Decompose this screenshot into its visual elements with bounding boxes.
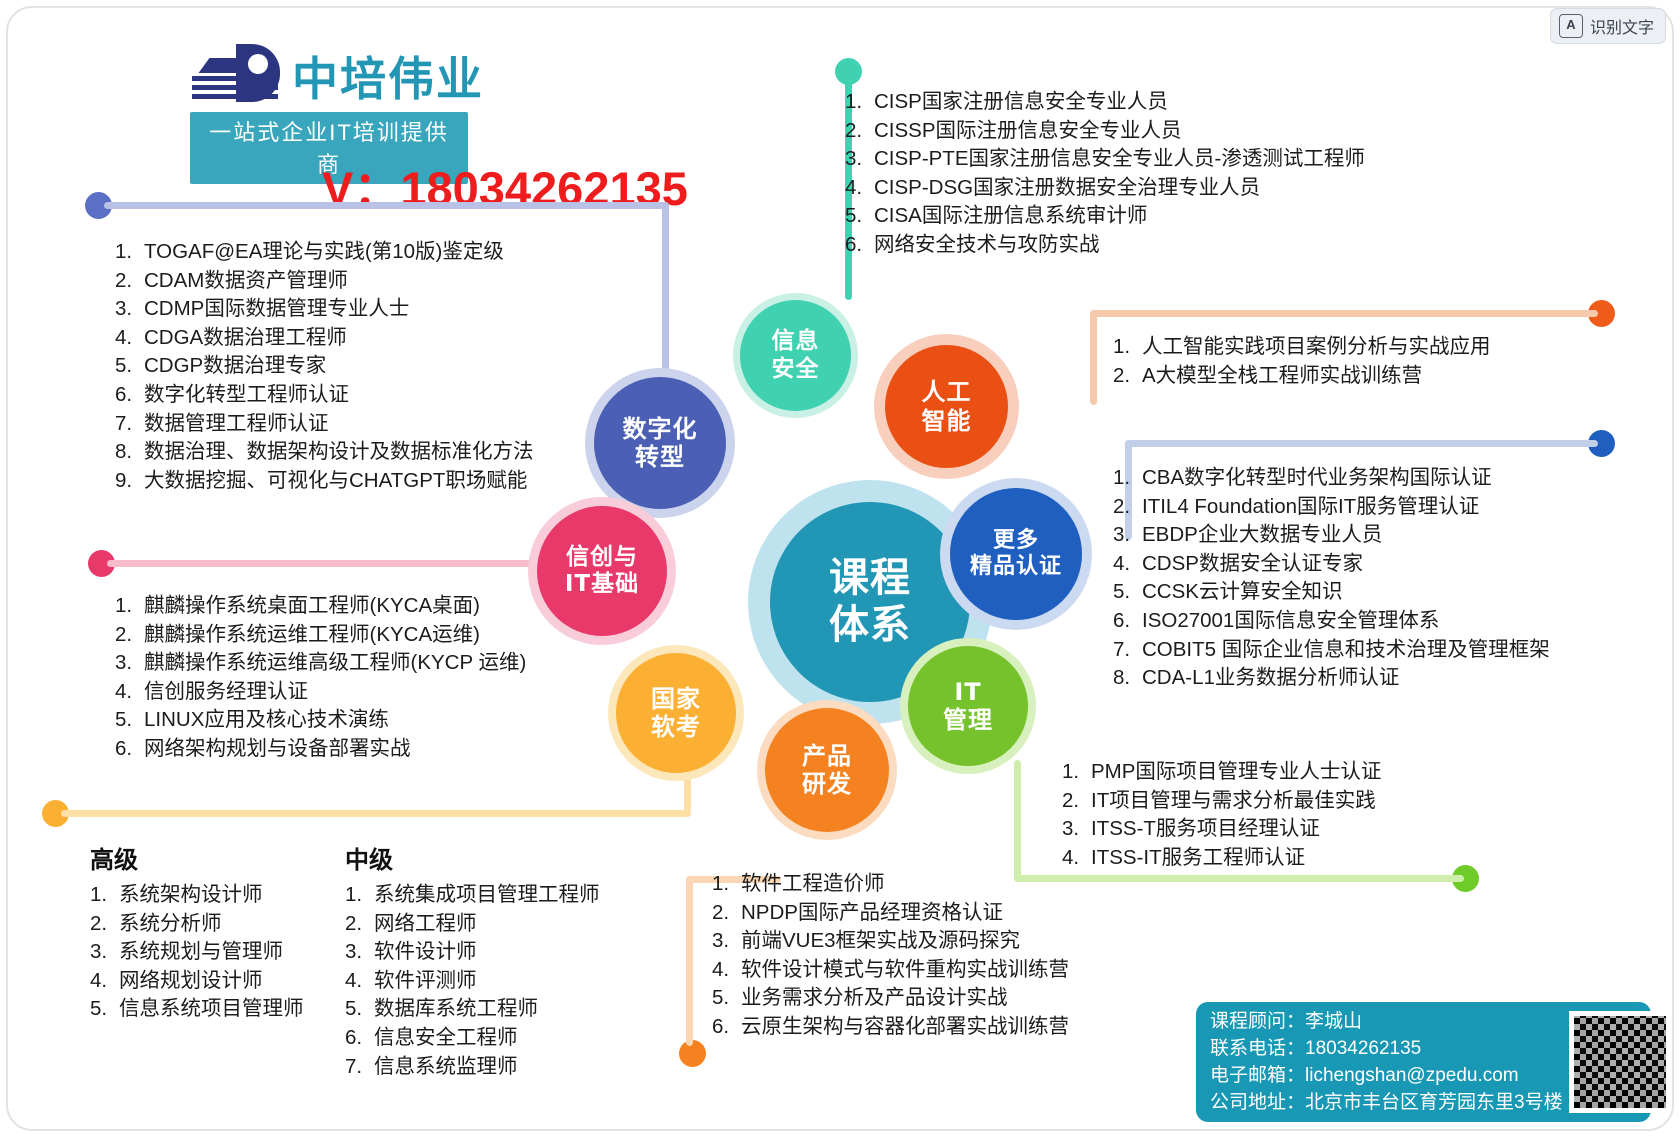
list-item-text: 麒麟操作系统桌面工程师(KYCA桌面) — [144, 592, 480, 621]
bubble-more-certifications[interactable]: 更多 精品认证 — [950, 488, 1082, 620]
list-item-text: 数据治理、数据架构设计及数据标准化方法 — [144, 438, 534, 467]
list-item: 5.信息系统项目管理师 — [90, 995, 304, 1024]
connector-exam-h — [61, 810, 691, 817]
list-item: 8.CDA-L1业务数据分析师认证 — [1113, 664, 1550, 693]
list-item: 1.TOGAF@EA理论与实践(第10版)鉴定级 — [115, 238, 534, 267]
list-item-text: PMP国际项目管理专业人士认证 — [1091, 758, 1381, 787]
list-item: 1.系统集成项目管理工程师 — [345, 881, 600, 910]
list-item: 3.前端VUE3框架实战及源码探究 — [712, 927, 1069, 956]
list-item: 4.软件评测师 — [345, 967, 600, 996]
list-item: 6.数字化转型工程师认证 — [115, 381, 534, 410]
list-item: 2.CISSP国际注册信息安全专业人员 — [845, 117, 1365, 146]
list-item: 6.网络架构规划与设备部署实战 — [115, 735, 526, 764]
connector-dot-infosec — [835, 58, 862, 85]
list-item: 1.CISP国家注册信息安全专业人员 — [845, 88, 1365, 117]
list-item: 2.系统分析师 — [90, 910, 304, 939]
list-item-text: ITSS-T服务项目经理认证 — [1091, 815, 1320, 844]
list-item-text: 软件设计师 — [374, 938, 477, 967]
list-digital-transformation: 1.TOGAF@EA理论与实践(第10版)鉴定级 2.CDAM数据资产管理师 3… — [115, 238, 534, 495]
zp-logo-icon — [190, 42, 282, 104]
list-item: 6.ISO27001国际信息安全管理体系 — [1113, 607, 1550, 636]
list-item-text: 大数据挖掘、可视化与CHATGPT职场赋能 — [144, 467, 527, 496]
bubble-digital-line2: 转型 — [635, 443, 685, 471]
bubble-artificial-intelligence[interactable]: 人工 智能 — [885, 345, 1008, 468]
list-item-text: CDA-L1业务数据分析师认证 — [1142, 664, 1399, 693]
list-item: 7.COBIT5 国际企业信息和技术治理及管理框架 — [1113, 636, 1550, 665]
list-item: 5.CCSK云计算安全知识 — [1113, 578, 1550, 607]
list-item: 1.CBA数字化转型时代业务架构国际认证 — [1113, 464, 1550, 493]
contact-phone: 联系电话：18034262135 — [1210, 1035, 1563, 1062]
bubble-itmgmt-line2: 管理 — [943, 706, 993, 734]
bubble-product-rd[interactable]: 产品 研发 — [765, 708, 889, 832]
bubble-product-line2: 研发 — [802, 770, 852, 798]
list-item: 3.CDMP国际数据管理专业人士 — [115, 295, 534, 324]
connector-ai-h — [1090, 310, 1598, 317]
connector-itmgmt-v — [1014, 760, 1021, 880]
list-item-text: COBIT5 国际企业信息和技术治理及管理框架 — [1142, 636, 1550, 665]
list-item: 4.CDSP数据安全认证专家 — [1113, 550, 1550, 579]
qr-code-image — [1569, 1011, 1671, 1113]
bubble-information-security[interactable]: 信息 安全 — [740, 300, 851, 411]
list-item-text: CISSP国际注册信息安全专业人员 — [874, 117, 1182, 146]
list-item-text: LINUX应用及核心技术演练 — [144, 706, 389, 735]
bubble-exam-line1: 国家 — [651, 685, 701, 713]
list-item-text: 信创服务经理认证 — [144, 678, 308, 707]
list-item: 6.云原生架构与容器化部署实战训练营 — [712, 1013, 1069, 1042]
bubble-infosec-line2: 安全 — [772, 356, 820, 382]
list-item-text: CISA国际注册信息系统审计师 — [874, 202, 1147, 231]
list-item: 1.软件工程造价师 — [712, 870, 1069, 899]
list-item-text: 麒麟操作系统运维工程师(KYCA运维) — [144, 621, 480, 650]
list-item-text: ITSS-IT服务工程师认证 — [1091, 844, 1305, 873]
list-item-text: CDAM数据资产管理师 — [144, 267, 348, 296]
text-recognition-icon: A — [1559, 14, 1583, 38]
list-item-text: CISP-PTE国家注册信息安全专业人员-渗透测试工程师 — [874, 145, 1365, 174]
list-item: 6.网络安全技术与攻防实战 — [845, 231, 1365, 260]
brand-name: 中培伟业 — [292, 56, 484, 102]
list-item-text: NPDP国际产品经理资格认证 — [741, 899, 1003, 928]
list-item-text: EBDP企业大数据专业人员 — [1142, 521, 1382, 550]
list-item: 5.LINUX应用及核心技术演练 — [115, 706, 526, 735]
bubble-more-line1: 更多 — [993, 528, 1039, 553]
list-item-text: 系统集成项目管理工程师 — [374, 881, 600, 910]
recognize-text-label: 识别文字 — [1590, 14, 1654, 38]
connector-xinchuang-h — [107, 560, 577, 567]
bubble-xinchuang-line1: 信创与 — [566, 544, 638, 570]
list-item: 4.CISP-DSG国家注册数据安全治理专业人员 — [845, 174, 1365, 203]
list-item: 2.ITIL4 Foundation国际IT服务管理认证 — [1113, 493, 1550, 522]
bubble-xinchuang-line2: IT基础 — [565, 571, 639, 597]
list-item-text: 数据库系统工程师 — [374, 995, 538, 1024]
list-item-text: 系统架构设计师 — [119, 881, 263, 910]
list-product-rd: 1.软件工程造价师 2.NPDP国际产品经理资格认证 3.前端VUE3框架实战及… — [712, 870, 1069, 1042]
list-it-management: 1.PMP国际项目管理专业人士认证 2.IT项目管理与需求分析最佳实践 3.IT… — [1062, 758, 1381, 872]
list-item-text: 人工智能实践项目案例分析与实战应用 — [1142, 333, 1491, 362]
list-item: 9.大数据挖掘、可视化与CHATGPT职场赋能 — [115, 467, 534, 496]
bubble-course-system-line1: 课程 — [829, 555, 911, 601]
list-item: 4.ITSS-IT服务工程师认证 — [1062, 844, 1381, 873]
bubble-itmgmt-line1: IT — [954, 678, 981, 706]
list-item: 1.人工智能实践项目案例分析与实战应用 — [1113, 333, 1491, 362]
bubble-ai-line1: 人工 — [922, 378, 972, 406]
list-item: 1.麒麟操作系统桌面工程师(KYCA桌面) — [115, 592, 526, 621]
list-item-text: 网络架构规划与设备部署实战 — [144, 735, 411, 764]
list-item: 2.麒麟操作系统运维工程师(KYCA运维) — [115, 621, 526, 650]
list-item: 4.软件设计模式与软件重构实战训练营 — [712, 956, 1069, 985]
bubble-it-management[interactable]: IT 管理 — [908, 646, 1028, 766]
list-item: 4.信创服务经理认证 — [115, 678, 526, 707]
bubble-more-line2: 精品认证 — [970, 554, 1062, 579]
list-item-text: 网络规划设计师 — [119, 967, 263, 996]
list-item-text: 软件设计模式与软件重构实战训练营 — [741, 956, 1069, 985]
list-item-text: 信息系统项目管理师 — [119, 995, 304, 1024]
list-item-text: 云原生架构与容器化部署实战训练营 — [741, 1013, 1069, 1042]
list-item-text: IT项目管理与需求分析最佳实践 — [1091, 787, 1376, 816]
list-item-text: 网络安全技术与攻防实战 — [874, 231, 1100, 260]
list-item: 2.NPDP国际产品经理资格认证 — [712, 899, 1069, 928]
list-item-text: CISP国家注册信息安全专业人员 — [874, 88, 1168, 117]
list-item-text: 前端VUE3框架实战及源码探究 — [741, 927, 1020, 956]
list-item: 5.CISA国际注册信息系统审计师 — [845, 202, 1365, 231]
list-item-text: TOGAF@EA理论与实践(第10版)鉴定级 — [144, 238, 504, 267]
list-item: 1.系统架构设计师 — [90, 881, 304, 910]
list-item: 8.数据治理、数据架构设计及数据标准化方法 — [115, 438, 534, 467]
list-item: 7.信息系统监理师 — [345, 1053, 600, 1082]
list-item-text: ITIL4 Foundation国际IT服务管理认证 — [1142, 493, 1479, 522]
bubble-infosec-line1: 信息 — [772, 328, 820, 354]
list-item: 2.A大模型全栈工程师实战训练营 — [1113, 362, 1491, 391]
list-item: 4.CDGA数据治理工程师 — [115, 324, 534, 353]
list-item: 3.ITSS-T服务项目经理认证 — [1062, 815, 1381, 844]
list-item-text: 系统规划与管理师 — [119, 938, 283, 967]
connector-product-v — [686, 876, 693, 1046]
list-item: 4.网络规划设计师 — [90, 967, 304, 996]
exam-group-senior-title: 高级 — [90, 840, 304, 875]
list-information-security: 1.CISP国家注册信息安全专业人员 2.CISSP国际注册信息安全专业人员 3… — [845, 88, 1365, 260]
bubble-xinchuang-it-base[interactable]: 信创与 IT基础 — [537, 506, 667, 636]
list-item-text: 信息安全工程师 — [374, 1024, 518, 1053]
bubble-national-exam[interactable]: 国家 软考 — [616, 653, 736, 773]
list-item-text: 软件工程造价师 — [741, 870, 885, 899]
list-item-text: 网络工程师 — [374, 910, 477, 939]
connector-digital-v — [662, 202, 669, 392]
list-more-certifications: 1.CBA数字化转型时代业务架构国际认证 2.ITIL4 Foundation国… — [1113, 464, 1550, 693]
list-item-text: CDGP数据治理专家 — [144, 352, 326, 381]
contact-email: 电子邮箱：lichengshan@zpedu.com — [1210, 1062, 1563, 1089]
list-item-text: 软件评测师 — [374, 967, 477, 996]
exam-group-intermediate: 中级 1.系统集成项目管理工程师 2.网络工程师 3.软件设计师 4.软件评测师… — [345, 840, 600, 1081]
bubble-ai-line2: 智能 — [922, 407, 972, 435]
list-item-text: 系统分析师 — [119, 910, 222, 939]
infographic-page: A 识别文字 中培伟业 一站式企业IT培训提供商 V：18034262135 — [0, 0, 1680, 1137]
list-item: 3.EBDP企业大数据专业人员 — [1113, 521, 1550, 550]
list-item: 3.软件设计师 — [345, 938, 600, 967]
list-item-text: 数字化转型工程师认证 — [144, 381, 349, 410]
list-item: 2.IT项目管理与需求分析最佳实践 — [1062, 787, 1381, 816]
contact-address: 公司地址：北京市丰台区育芳园东里3号楼 — [1210, 1089, 1563, 1116]
list-item: 7.数据管理工程师认证 — [115, 410, 534, 439]
recognize-text-button[interactable]: A 识别文字 — [1550, 8, 1666, 44]
list-exam-intermediate: 1.系统集成项目管理工程师 2.网络工程师 3.软件设计师 4.软件评测师 5.… — [345, 881, 600, 1081]
list-item: 1.PMP国际项目管理专业人士认证 — [1062, 758, 1381, 787]
bubble-course-system-line2: 体系 — [829, 602, 911, 648]
list-item-text: 业务需求分析及产品设计实战 — [741, 984, 1008, 1013]
exam-group-senior: 高级 1.系统架构设计师 2.系统分析师 3.系统规划与管理师 4.网络规划设计… — [90, 840, 304, 1024]
bubble-digital-transform[interactable]: 数字化 转型 — [594, 377, 726, 509]
list-item: 2.网络工程师 — [345, 910, 600, 939]
list-item-text: CDMP国际数据管理专业人士 — [144, 295, 409, 324]
exam-group-intermediate-title: 中级 — [345, 840, 600, 875]
bubble-exam-line2: 软考 — [651, 713, 701, 741]
list-xinchuang-it-base: 1.麒麟操作系统桌面工程师(KYCA桌面) 2.麒麟操作系统运维工程师(KYCA… — [115, 592, 526, 764]
list-artificial-intelligence: 1.人工智能实践项目案例分析与实战应用 2.A大模型全栈工程师实战训练营 — [1113, 333, 1491, 390]
list-item-text: 信息系统监理师 — [374, 1053, 518, 1082]
connector-digital-h — [104, 202, 669, 209]
list-item-text: ISO27001国际信息安全管理体系 — [1142, 607, 1439, 636]
list-item-text: 数据管理工程师认证 — [144, 410, 329, 439]
list-item: 3.系统规划与管理师 — [90, 938, 304, 967]
bubble-product-line1: 产品 — [802, 742, 852, 770]
list-item-text: A大模型全栈工程师实战训练营 — [1142, 362, 1422, 391]
contact-card: 课程顾问：李城山 联系电话：18034262135 电子邮箱：lichengsh… — [1196, 1002, 1651, 1122]
list-item-text: CDSP数据安全认证专家 — [1142, 550, 1363, 579]
list-item: 6.信息安全工程师 — [345, 1024, 600, 1053]
list-item: 5.数据库系统工程师 — [345, 995, 600, 1024]
list-item: 5.CDGP数据治理专家 — [115, 352, 534, 381]
list-exam-senior: 1.系统架构设计师 2.系统分析师 3.系统规划与管理师 4.网络规划设计师 5… — [90, 881, 304, 1024]
connector-ai-v — [1090, 310, 1097, 405]
connector-itmgmt-h — [1014, 875, 1464, 882]
contact-advisor: 课程顾问：李城山 — [1210, 1008, 1563, 1035]
connector-more-h — [1125, 440, 1598, 447]
list-item: 3.麒麟操作系统运维高级工程师(KYCP 运维) — [115, 649, 526, 678]
list-item-text: CCSK云计算安全知识 — [1142, 578, 1342, 607]
list-item-text: 麒麟操作系统运维高级工程师(KYCP 运维) — [144, 649, 526, 678]
list-item: 3.CISP-PTE国家注册信息安全专业人员-渗透测试工程师 — [845, 145, 1365, 174]
list-item-text: CBA数字化转型时代业务架构国际认证 — [1142, 464, 1492, 493]
list-item-text: CISP-DSG国家注册数据安全治理专业人员 — [874, 174, 1260, 203]
list-item: 2.CDAM数据资产管理师 — [115, 267, 534, 296]
bubble-digital-line1: 数字化 — [623, 415, 698, 443]
list-item-text: CDGA数据治理工程师 — [144, 324, 347, 353]
list-item: 5.业务需求分析及产品设计实战 — [712, 984, 1069, 1013]
